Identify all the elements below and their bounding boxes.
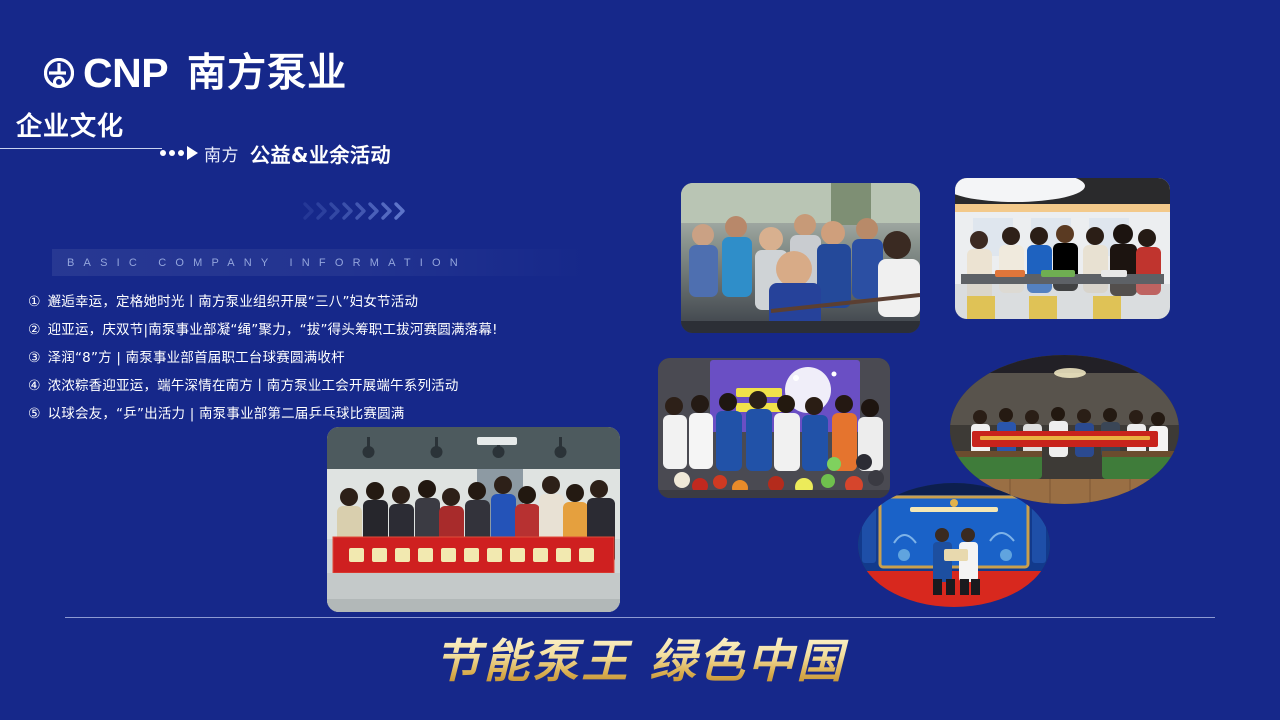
list-item-label: 泽润“8”方 | 南泵事业部首届职工台球赛圆满收杆 [48,348,345,368]
list-item-label: 以球会友，“乒”出活力 | 南泵事业部第二届乒乓球比赛圆满 [48,404,405,424]
brand-name-en: CNP [83,53,168,94]
list-item: ③ 泽润“8”方 | 南泵事业部首届职工台球赛圆满收杆 [28,348,648,368]
list-item: ② 迎亚运，庆双节|南泵事业部凝“绳”聚力，“拔”得头筹职工拔河赛圆满落幕! [28,320,648,340]
subtitle-prefix: 南方 [204,141,239,166]
list-item: ① 邂逅幸运，定格她时光丨南方泵业组织开展“三八”妇女节活动 [28,292,648,312]
cnp-pump-logo-icon [44,58,74,88]
section-subtitle: 南方 公益&业余活动 [160,140,391,166]
list-item-number: ⑤ [28,404,41,424]
list-item: ④ 浓浓粽香迎亚运，端午深情在南方丨南方泵业工会开展端午系列活动 [28,376,648,396]
photo-billiards-tournament [950,355,1179,504]
list-item-number: ① [28,292,41,312]
slide-root: CNP 南方泵业 企业文化 南方 公益&业余活动 [0,0,1280,720]
photo-pingpong-team [327,427,620,612]
photo-award-ceremony [858,483,1050,607]
list-item-label: 迎亚运，庆双节|南泵事业部凝“绳”聚力，“拔”得头筹职工拔河赛圆满落幕! [48,320,498,340]
brand-logo: CNP 南方泵业 [44,50,347,96]
list-item-number: ② [28,320,41,340]
basic-company-information-band: BASIC COMPANY INFORMATION [52,249,590,276]
list-item-number: ④ [28,376,41,396]
three-dots-icon [160,150,184,156]
title-underline [0,148,162,149]
play-triangle-icon [187,146,198,160]
band-label: BASIC COMPANY INFORMATION [52,257,467,269]
footer-divider [65,617,1215,618]
brand-name-cn: 南方泵业 [187,54,347,93]
activity-list: ① 邂逅幸运，定格她时光丨南方泵业组织开展“三八”妇女节活动 ② 迎亚运，庆双节… [28,292,648,432]
list-item-label: 邂逅幸运，定格她时光丨南方泵业组织开展“三八”妇女节活动 [48,292,419,312]
list-item-label: 浓浓粽香迎亚运，端午深情在南方丨南方泵业工会开展端午系列活动 [48,376,459,396]
photo-festival-gathering [658,358,890,498]
subtitle-text: 公益&业余活动 [250,139,391,168]
list-item: ⑤ 以球会友，“乒”出活力 | 南泵事业部第二届乒乓球比赛圆满 [28,404,648,424]
list-item-number: ③ [28,348,41,368]
chevron-decoration [302,198,414,224]
photo-tug-of-war [681,183,920,333]
footer-slogan: 节能泵王 绿色中国 [0,634,1280,689]
photo-canteen-activity [955,178,1170,319]
section-header: 企业文化 南方 公益&业余活动 [16,114,716,174]
page-title: 企业文化 [16,114,716,140]
